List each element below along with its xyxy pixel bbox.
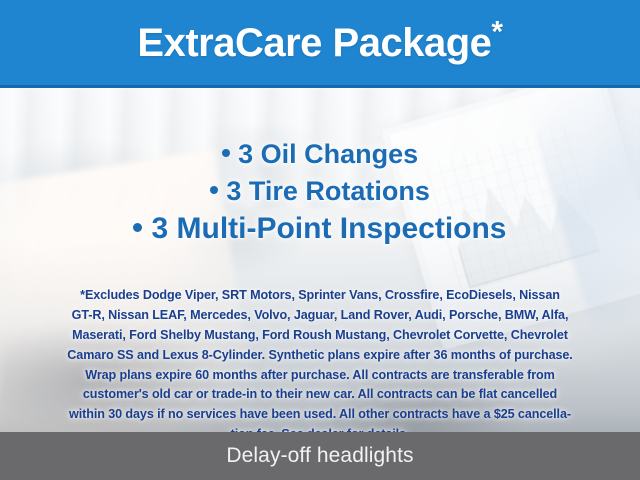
disclaimer-line: Maserati, Ford Shelby Mustang, Ford Rous… bbox=[22, 326, 618, 346]
page-title-text: ExtraCare Package bbox=[137, 21, 491, 65]
disclaimer-line: GT-R, Nissan LEAF, Mercedes, Volvo, Jagu… bbox=[22, 306, 618, 326]
benefits-list: 3 Oil Changes 3 Tire Rotations 3 Multi-P… bbox=[0, 140, 640, 245]
disclaimer-line: Camaro SS and Lexus 8-Cylinder. Syntheti… bbox=[22, 346, 618, 366]
caption-text: Delay-off headlights bbox=[226, 444, 413, 468]
bullet-dot-icon bbox=[133, 223, 142, 232]
caption-bar: Delay-off headlights bbox=[0, 432, 640, 480]
page-title: ExtraCare Package* bbox=[137, 23, 502, 63]
bullet-dot-icon bbox=[210, 186, 218, 194]
disclaimer-line: within 30 days if no services have been … bbox=[22, 405, 618, 425]
benefit-item-tire-rotations: 3 Tire Rotations bbox=[0, 177, 640, 206]
disclaimer-text: *Excludes Dodge Viper, SRT Motors, Sprin… bbox=[22, 286, 618, 445]
disclaimer-line: customer's old car or trade-in to their … bbox=[22, 385, 618, 405]
bullet-dot-icon bbox=[222, 149, 230, 157]
disclaimer-line: *Excludes Dodge Viper, SRT Motors, Sprin… bbox=[22, 286, 618, 306]
header-band: ExtraCare Package* bbox=[0, 0, 640, 88]
benefit-item-oil-changes: 3 Oil Changes bbox=[0, 140, 640, 169]
page-title-asterisk: * bbox=[491, 15, 502, 48]
benefit-label: 3 Multi-Point Inspections bbox=[151, 212, 506, 245]
benefit-item-multi-point-inspections: 3 Multi-Point Inspections bbox=[0, 213, 640, 245]
disclaimer-line: Wrap plans expire 60 months after purcha… bbox=[22, 366, 618, 386]
promo-image: ExtraCare Package* 3 Oil Changes 3 Tire … bbox=[0, 0, 640, 480]
benefit-label: 3 Tire Rotations bbox=[226, 176, 430, 206]
benefit-label: 3 Oil Changes bbox=[238, 139, 418, 169]
